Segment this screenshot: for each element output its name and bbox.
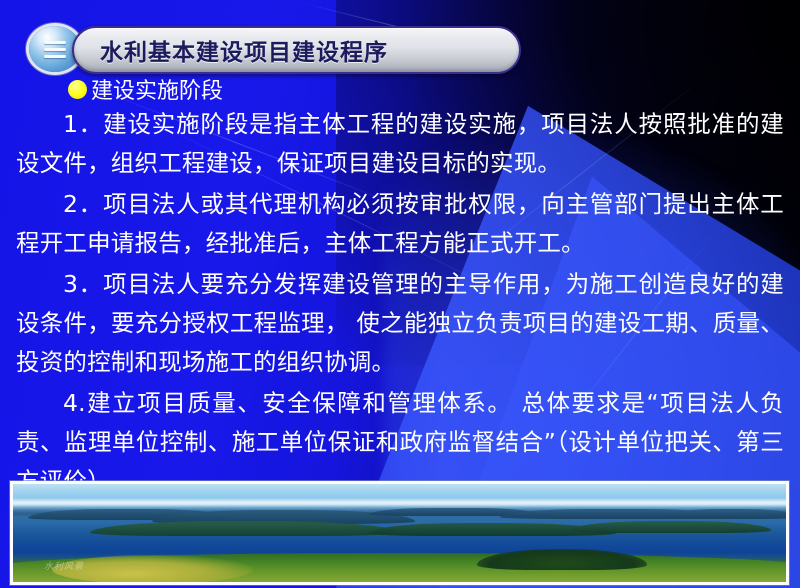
photo-watermark: 水利风景 bbox=[44, 559, 84, 572]
hamburger-bar bbox=[44, 41, 66, 44]
page-title: 水利基本建设项目建设程序 bbox=[100, 33, 388, 67]
slide-canvas: 水利基本建设项目建设程序 建设实施阶段 1．建设实施阶段是指主体工程的建设实施，… bbox=[0, 0, 800, 588]
yellow-dot-bullet-icon bbox=[68, 80, 87, 99]
slide-body: 1．建设实施阶段是指主体工程的建设实施，项目法人按照批准的建设文件，组织工程建设… bbox=[16, 105, 784, 503]
photo-tree-clump bbox=[477, 549, 647, 571]
body-paragraph: 1．建设实施阶段是指主体工程的建设实施，项目法人按照批准的建设文件，组织工程建设… bbox=[16, 105, 784, 183]
photo-headland bbox=[662, 509, 789, 519]
hamburger-bar bbox=[44, 55, 66, 58]
landscape-photo: 水利风景 bbox=[10, 481, 789, 585]
section-heading-label: 建设实施阶段 bbox=[91, 73, 223, 105]
photo-island bbox=[90, 521, 399, 536]
hamburger-bar bbox=[44, 48, 66, 51]
section-heading: 建设实施阶段 bbox=[68, 73, 223, 105]
slide-header: 水利基本建设项目建设程序 bbox=[0, 12, 800, 70]
photo-island bbox=[570, 521, 771, 533]
title-banner: 水利基本建设项目建设程序 bbox=[72, 26, 521, 74]
body-paragraph: 2．项目法人或其代理机构必须按审批权限，向主管部门提出主体工程开工申请报告，经批… bbox=[16, 185, 784, 263]
body-paragraph: 3．项目法人要充分发挥建设管理的主导作用，为施工创造良好的建设条件，要充分授权工… bbox=[16, 265, 784, 382]
photo-image: 水利风景 bbox=[13, 484, 786, 582]
